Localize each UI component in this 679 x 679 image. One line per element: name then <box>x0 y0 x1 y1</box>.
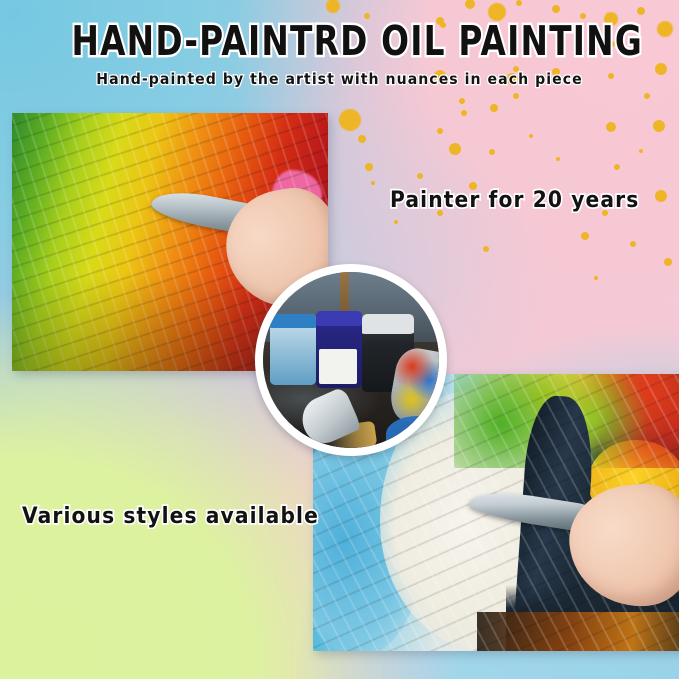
paint-splatter-dot <box>394 220 398 224</box>
paint-splatter-dot <box>630 241 636 247</box>
studio-paint-tools-image <box>263 272 439 448</box>
paint-splatter-dot <box>437 128 443 134</box>
paint-splatter-dot <box>513 93 519 99</box>
paint-splatter-dot <box>358 135 366 143</box>
artwork-studio-tools <box>263 272 439 448</box>
paint-splatter-dot <box>653 120 665 132</box>
paint-jar-blue <box>316 311 362 388</box>
paint-jar-label <box>319 349 357 383</box>
paint-splatter-dot <box>465 0 475 9</box>
photo-card-studio-paint-tools <box>255 264 447 456</box>
paint-splatter-dot <box>594 276 598 280</box>
paint-splatter-dot <box>339 109 361 131</box>
blue-tarp <box>386 416 439 448</box>
headline-container: HAND-PAINTRD OIL PAINTING <box>0 18 679 64</box>
caption-various-styles: Various styles available <box>22 504 319 529</box>
page-title: HAND-PAINTRD OIL PAINTING <box>71 18 643 64</box>
paint-splatter-dot <box>461 110 467 116</box>
paint-splatter-dot <box>664 258 672 266</box>
paint-jar-clear-blue <box>270 314 316 384</box>
page-subtitle: Hand-painted by the artist with nuances … <box>20 70 658 88</box>
paint-splatter-dot <box>655 190 667 202</box>
paint-splatter-dot <box>490 104 498 112</box>
caption-painter-experience: Painter for 20 years <box>390 188 639 213</box>
paint-jar-rim-blue <box>316 311 362 326</box>
paint-splatter-dot <box>459 98 465 104</box>
paint-splatter-dot <box>489 149 495 155</box>
paint-splatter-dot <box>581 232 589 240</box>
paint-splatter-dot <box>637 7 645 15</box>
paint-jar-lid-blue <box>270 314 316 328</box>
paint-splatter-dot <box>326 0 340 13</box>
paint-splatter-dot <box>614 164 620 170</box>
paint-splatter-dot <box>483 246 489 252</box>
poster-canvas: HAND-PAINTRD OIL PAINTING Hand-painted b… <box>0 0 679 679</box>
paint-splatter-dot <box>417 173 423 179</box>
paint-splatter-dot <box>644 93 650 99</box>
paint-splatter-dot <box>639 149 643 153</box>
paint-splatter-dot <box>516 0 522 6</box>
paint-splatter-dot <box>449 143 461 155</box>
paint-bucket-lid <box>362 314 415 334</box>
paint-splatter-dot <box>365 163 373 171</box>
paint-splatter-dot <box>552 5 560 13</box>
paint-splatter-dot <box>529 134 533 138</box>
paint-splatter-dot <box>371 181 375 185</box>
paint-splatter-dot <box>556 157 560 161</box>
paint-splatter-dot <box>606 122 616 132</box>
